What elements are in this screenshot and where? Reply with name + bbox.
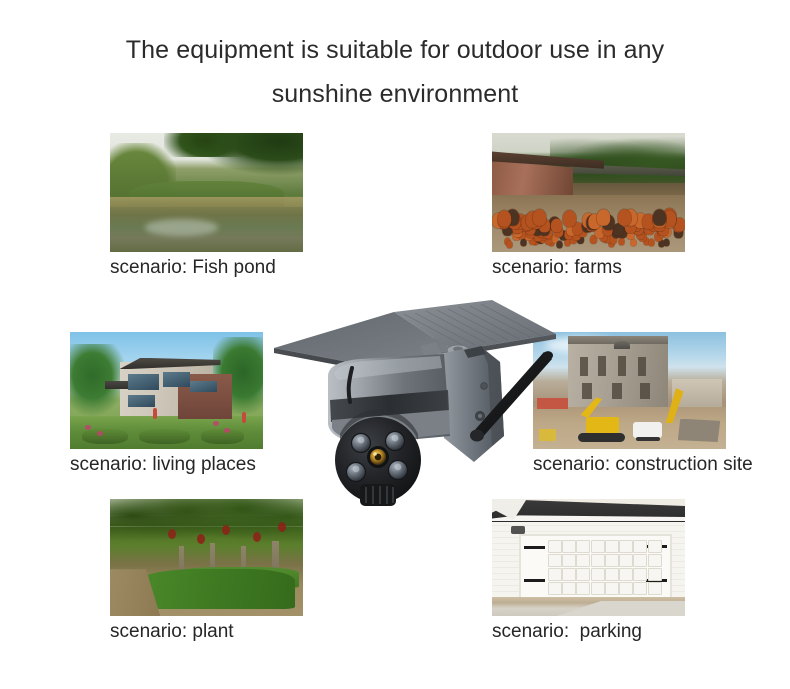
chicken bbox=[618, 209, 631, 225]
page-title-line-1: The equipment is suitable for outdoor us… bbox=[126, 36, 664, 64]
villa-tree-left bbox=[70, 344, 124, 417]
garage-door-panel bbox=[591, 554, 605, 567]
construction-window bbox=[638, 357, 646, 376]
villa-hedge bbox=[82, 429, 128, 444]
excavator-tracks bbox=[578, 433, 624, 442]
scenario-image-construction-site bbox=[533, 332, 726, 449]
construction-stone-building bbox=[568, 341, 668, 414]
chicken bbox=[497, 210, 510, 226]
garage-door-panel bbox=[576, 554, 590, 567]
scenario-card-construction-site[interactable]: scenario: construction site bbox=[533, 332, 726, 477]
scenario-image-parking bbox=[492, 499, 685, 616]
construction-excavator bbox=[575, 409, 625, 442]
chicken bbox=[653, 209, 666, 225]
scenario-caption-fish-pond: scenario: Fish pond bbox=[110, 256, 303, 280]
garage-door-panel bbox=[648, 582, 662, 595]
scenario-image-living-places bbox=[70, 332, 263, 449]
construction-window bbox=[618, 356, 626, 376]
garage-door-hinge bbox=[524, 546, 545, 549]
garage-sectional-door bbox=[519, 534, 671, 599]
chicken bbox=[533, 209, 546, 225]
villa-window bbox=[128, 395, 155, 407]
plant-fruit bbox=[197, 534, 205, 544]
garage-door-panel bbox=[605, 568, 619, 581]
excavator-cab bbox=[586, 417, 618, 433]
garage-door-panel bbox=[605, 540, 619, 553]
construction-window bbox=[612, 383, 622, 399]
pond-water bbox=[110, 207, 303, 252]
villa-hedge bbox=[139, 429, 189, 444]
plant-fruit bbox=[253, 532, 261, 542]
garage-door-panel bbox=[648, 540, 662, 553]
garage-door-panel bbox=[548, 540, 562, 553]
villa-window bbox=[163, 372, 190, 387]
chicken bbox=[648, 238, 654, 246]
chicken bbox=[597, 210, 610, 226]
garage-door-panel bbox=[648, 568, 662, 581]
garage-door-panel bbox=[633, 582, 647, 595]
garage-door-panel bbox=[548, 568, 562, 581]
speaker bbox=[360, 484, 396, 506]
garage-door-hinge bbox=[524, 579, 545, 582]
garage-door-panel bbox=[619, 554, 633, 567]
construction-debris-container bbox=[678, 419, 720, 442]
garage-door-panel bbox=[562, 582, 576, 595]
villa-hedge bbox=[201, 429, 243, 444]
villa-window bbox=[190, 381, 217, 392]
chicken bbox=[630, 239, 636, 247]
chicken bbox=[507, 240, 513, 248]
garage-door-panel bbox=[591, 568, 605, 581]
plant-fruit bbox=[222, 525, 230, 535]
garage-door-panel bbox=[633, 568, 647, 581]
garage-door-panel bbox=[648, 554, 662, 567]
scenario-caption-parking: scenario: parking bbox=[492, 620, 685, 644]
villa-person bbox=[153, 408, 157, 419]
garage-wall-lamp-icon bbox=[511, 526, 525, 534]
garage-door-panel bbox=[576, 568, 590, 581]
garage-door-panel bbox=[576, 582, 590, 595]
construction-window bbox=[598, 356, 606, 376]
villa-window bbox=[128, 374, 159, 390]
scenario-caption-plant: scenario: plant bbox=[110, 620, 303, 644]
garage-door-panel bbox=[591, 582, 605, 595]
construction-window bbox=[582, 383, 592, 399]
promo-page: The equipment is suitable for outdoor us… bbox=[0, 0, 790, 689]
garage-door-panel bbox=[633, 554, 647, 567]
scenario-card-parking[interactable]: scenario: parking bbox=[492, 499, 685, 644]
scenario-card-farms[interactable]: scenario: farms bbox=[492, 133, 685, 280]
chicken bbox=[618, 238, 624, 246]
villa-flower bbox=[213, 421, 219, 426]
construction-window bbox=[640, 383, 650, 399]
garage-door-panel bbox=[562, 568, 576, 581]
scenario-card-plant[interactable]: scenario: plant bbox=[110, 499, 303, 644]
farm-chicken-flock bbox=[492, 193, 685, 253]
scenario-card-fish-pond[interactable]: scenario: Fish pond bbox=[110, 133, 303, 280]
scenario-caption-living-places: scenario: living places bbox=[70, 453, 263, 477]
scenario-image-plant bbox=[110, 499, 303, 616]
garage-door-panel bbox=[605, 582, 619, 595]
scenario-image-fish-pond bbox=[110, 133, 303, 252]
scenario-caption-construction-site: scenario: construction site bbox=[533, 453, 726, 477]
garage-door-panel bbox=[562, 540, 576, 553]
camera-dome bbox=[335, 409, 421, 506]
villa-person bbox=[242, 412, 246, 423]
garage-door-panel bbox=[548, 582, 562, 595]
garage-door-panel bbox=[548, 554, 562, 567]
garage-door-panel bbox=[619, 582, 633, 595]
page-title-line-2: sunshine environment bbox=[0, 72, 790, 116]
plant-vegetable-row-front bbox=[133, 569, 295, 609]
construction-white-van bbox=[633, 422, 662, 438]
chicken bbox=[563, 211, 576, 227]
garage-door-panel bbox=[633, 540, 647, 553]
pond-foreground-tree bbox=[195, 133, 303, 176]
garage-door-panel bbox=[562, 554, 576, 567]
scenario-caption-farms: scenario: farms bbox=[492, 256, 685, 280]
solar-ptz-camera-product-image bbox=[268, 288, 558, 513]
construction-window bbox=[580, 357, 588, 376]
chicken bbox=[551, 219, 562, 233]
garage-door-panel bbox=[591, 540, 605, 553]
villa-flower bbox=[224, 428, 230, 433]
garage-driveway bbox=[492, 597, 685, 616]
scenario-image-farms bbox=[492, 133, 685, 252]
garage-door-panel bbox=[619, 540, 633, 553]
garage-door-panel bbox=[605, 554, 619, 567]
page-title: The equipment is suitable for outdoor us… bbox=[0, 28, 790, 116]
garage-door-panel bbox=[619, 568, 633, 581]
construction-building-dome bbox=[614, 341, 630, 350]
garage-door-panel bbox=[576, 540, 590, 553]
scenario-card-living-places[interactable]: scenario: living places bbox=[70, 332, 263, 477]
lens bbox=[367, 446, 389, 468]
